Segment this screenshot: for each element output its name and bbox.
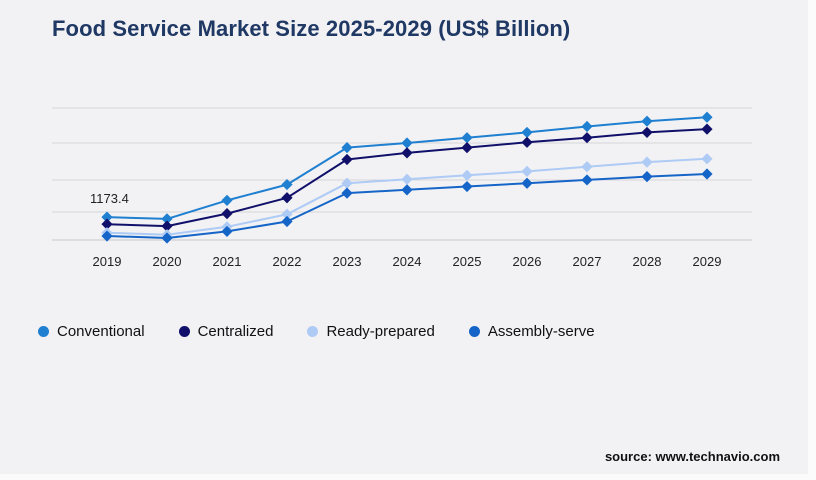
data-point-marker[interactable] bbox=[461, 132, 472, 143]
data-point-marker[interactable] bbox=[281, 216, 292, 227]
data-point-marker[interactable] bbox=[701, 168, 712, 179]
data-point-marker[interactable] bbox=[581, 174, 592, 185]
data-value-label: 1173.4 bbox=[90, 191, 129, 206]
series-conventional bbox=[101, 112, 712, 225]
data-point-marker[interactable] bbox=[401, 184, 412, 195]
legend-label: Conventional bbox=[57, 323, 145, 340]
chart-legend: ConventionalCentralizedReady-preparedAss… bbox=[38, 323, 629, 340]
right-edge-strip bbox=[808, 0, 816, 480]
data-point-marker[interactable] bbox=[641, 127, 652, 138]
legend-swatch-icon bbox=[38, 326, 49, 337]
data-point-marker[interactable] bbox=[701, 124, 712, 135]
data-point-marker[interactable] bbox=[341, 154, 352, 165]
data-point-marker[interactable] bbox=[401, 147, 412, 158]
data-point-marker[interactable] bbox=[521, 137, 532, 148]
data-point-marker[interactable] bbox=[341, 188, 352, 199]
series-line bbox=[107, 117, 707, 219]
data-point-marker[interactable] bbox=[221, 195, 232, 206]
data-point-marker[interactable] bbox=[701, 112, 712, 123]
data-point-marker[interactable] bbox=[641, 157, 652, 168]
legend-swatch-icon bbox=[469, 326, 480, 337]
data-point-marker[interactable] bbox=[521, 166, 532, 177]
data-point-marker[interactable] bbox=[581, 121, 592, 132]
data-point-marker[interactable] bbox=[581, 161, 592, 172]
legend-item-assembly-serve[interactable]: Assembly-serve bbox=[469, 323, 595, 340]
data-point-marker[interactable] bbox=[701, 153, 712, 164]
legend-item-centralized[interactable]: Centralized bbox=[179, 323, 274, 340]
data-point-marker[interactable] bbox=[521, 127, 532, 138]
data-point-marker[interactable] bbox=[641, 171, 652, 182]
data-point-marker[interactable] bbox=[221, 208, 232, 219]
data-point-marker[interactable] bbox=[341, 178, 352, 189]
legend-label: Assembly-serve bbox=[488, 323, 595, 340]
legend-label: Centralized bbox=[198, 323, 274, 340]
chart-canvas: Food Service Market Size 2025-2029 (US$ … bbox=[0, 0, 816, 480]
legend-swatch-icon bbox=[307, 326, 318, 337]
legend-item-ready-prepared[interactable]: Ready-prepared bbox=[307, 323, 434, 340]
legend-item-conventional[interactable]: Conventional bbox=[38, 323, 145, 340]
bottom-edge-strip bbox=[0, 474, 816, 480]
data-point-marker[interactable] bbox=[281, 179, 292, 190]
data-point-marker[interactable] bbox=[341, 142, 352, 153]
data-point-marker[interactable] bbox=[401, 137, 412, 148]
legend-label: Ready-prepared bbox=[326, 323, 434, 340]
data-point-marker[interactable] bbox=[401, 174, 412, 185]
data-point-marker[interactable] bbox=[521, 178, 532, 189]
data-point-marker[interactable] bbox=[281, 192, 292, 203]
series-ready-prepared bbox=[101, 153, 712, 240]
source-credit: source: www.technavio.com bbox=[605, 449, 780, 464]
data-point-marker[interactable] bbox=[461, 170, 472, 181]
data-point-marker[interactable] bbox=[461, 142, 472, 153]
data-point-marker[interactable] bbox=[581, 132, 592, 143]
data-point-marker[interactable] bbox=[641, 116, 652, 127]
series-layer bbox=[101, 112, 712, 244]
data-point-marker[interactable] bbox=[461, 181, 472, 192]
line-chart-plot bbox=[0, 0, 816, 480]
series-line bbox=[107, 159, 707, 235]
x-tick-label: 2029 bbox=[672, 254, 742, 269]
legend-swatch-icon bbox=[179, 326, 190, 337]
